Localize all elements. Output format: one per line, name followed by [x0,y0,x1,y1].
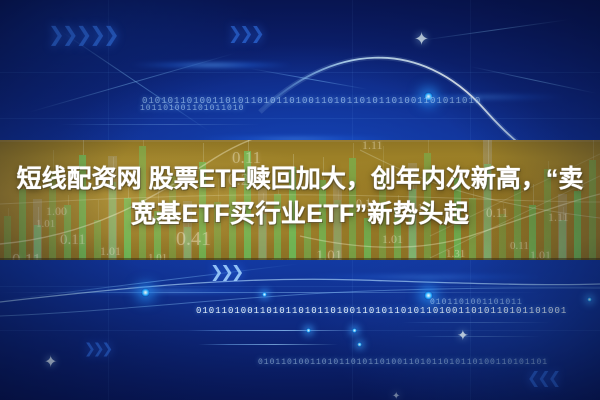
banner-image: ✦ ✦ ✦ ✦ ❯❯❯❯❯ ❯❯❯ ❯❯❯ ❯❯❯ ❮❮❮ 0101011010… [0,0,600,400]
vignette [0,0,600,400]
